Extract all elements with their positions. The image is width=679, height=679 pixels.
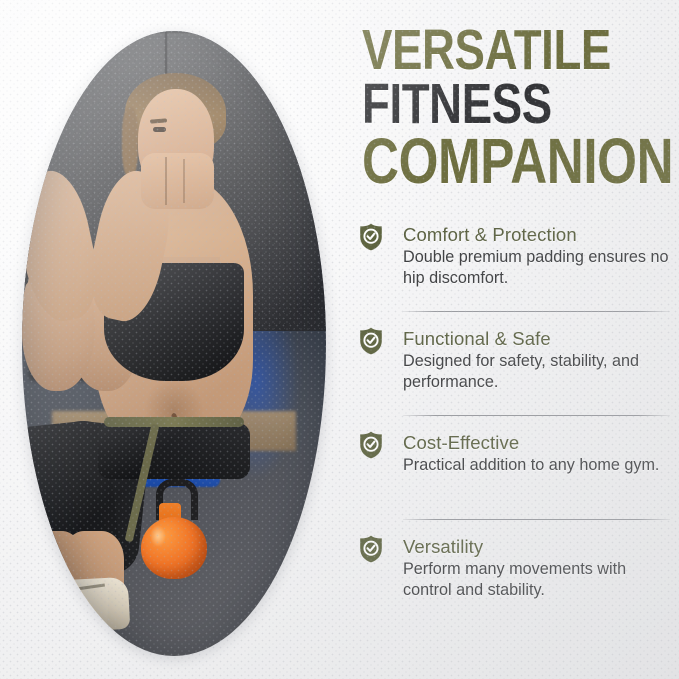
feature-item-versatility: Versatility Perform many movements with …: [356, 526, 679, 630]
feature-title: Comfort & Protection: [403, 224, 671, 245]
infographic-canvas: VERSATILE FITNESS COMPANION Comfort & Pr…: [0, 0, 679, 679]
headline-line-1: VERSATILE: [362, 24, 615, 76]
feature-item-cost-effective: Cost-Effective Practical addition to any…: [356, 422, 679, 526]
shield-check-icon: [358, 535, 384, 563]
feature-item-functional-safe: Functional & Safe Designed for safety, s…: [356, 318, 679, 422]
headline-line-3: COMPANION: [362, 132, 615, 191]
shield-check-icon: [358, 223, 384, 251]
shield-check-icon: [358, 327, 384, 355]
feature-divider: [403, 415, 670, 416]
headline-line-2: FITNESS: [362, 78, 615, 130]
photo-inner-shadow: [22, 31, 326, 656]
feature-title: Cost-Effective: [403, 432, 671, 453]
product-lifestyle-photo: [22, 31, 326, 656]
content-column: VERSATILE FITNESS COMPANION Comfort & Pr…: [356, 0, 679, 679]
feature-description: Designed for safety, stability, and perf…: [403, 351, 671, 392]
page-title: VERSATILE FITNESS COMPANION: [362, 24, 678, 191]
shield-check-icon: [358, 431, 384, 459]
eye-right: [22, 127, 35, 132]
feature-description: Double premium padding ensures no hip di…: [403, 247, 671, 288]
feature-divider: [403, 311, 670, 312]
feature-item-comfort-protection: Comfort & Protection Double premium padd…: [356, 214, 679, 318]
feature-title: Functional & Safe: [403, 328, 671, 349]
feature-description: Practical addition to any home gym.: [403, 455, 671, 475]
hair-strand-right: [22, 105, 40, 181]
feature-title: Versatility: [403, 536, 671, 557]
feature-list: Comfort & Protection Double premium padd…: [356, 214, 679, 630]
feature-divider: [403, 519, 670, 520]
feature-description: Perform many movements with control and …: [403, 559, 671, 600]
